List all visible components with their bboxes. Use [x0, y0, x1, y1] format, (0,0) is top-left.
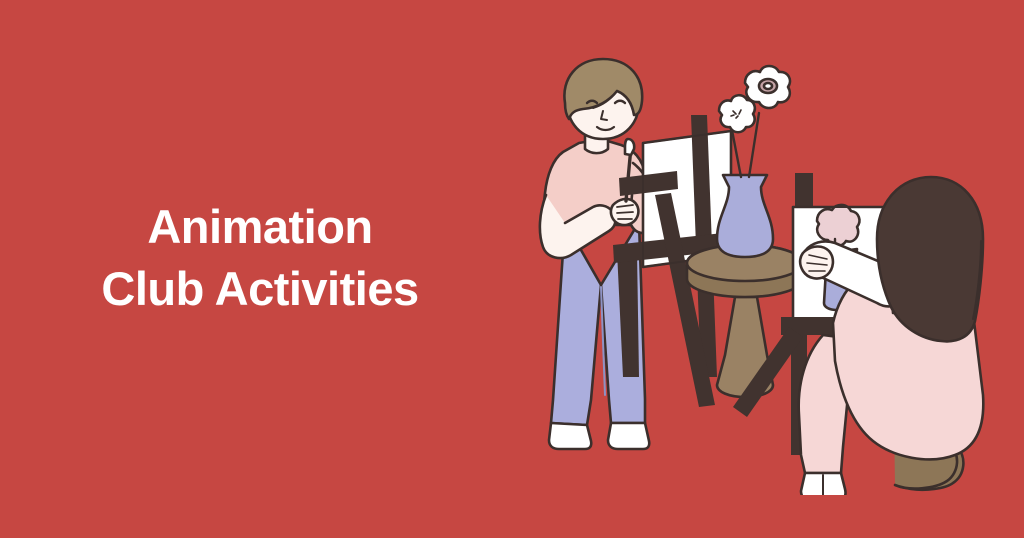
banner: Animation Club Activities [0, 0, 1024, 538]
page-title: Animation Club Activities [40, 196, 480, 320]
art-class-illustration [505, 55, 1024, 495]
headline-line-2: Club Activities [40, 258, 480, 320]
headline-line-1: Animation [40, 196, 480, 258]
